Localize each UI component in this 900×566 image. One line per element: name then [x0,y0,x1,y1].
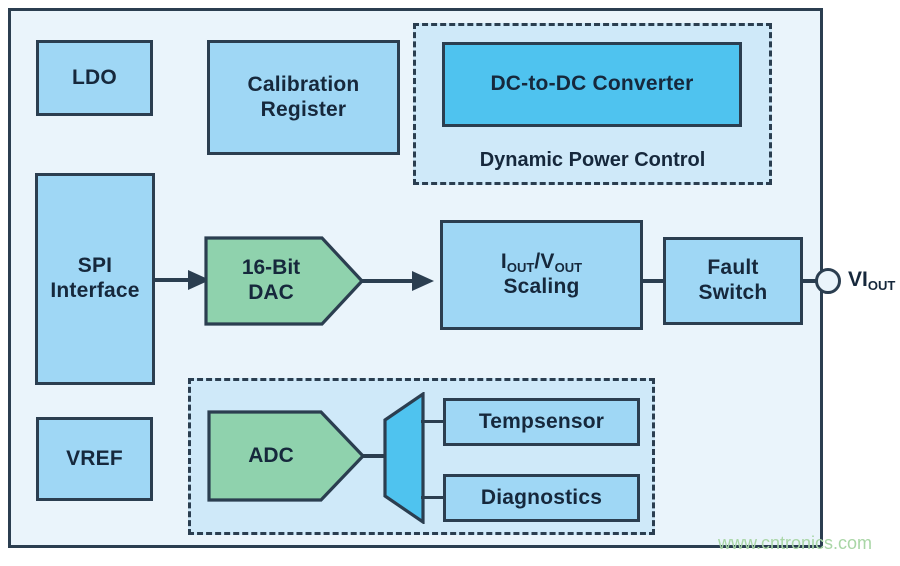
block-adc[interactable]: ADC [207,410,365,502]
scaling-i-sub: OUT [507,260,534,275]
calibration-register-line1: Calibration [248,73,360,96]
spi-interface-line1: SPI [78,254,112,277]
block-vref[interactable]: VREF [36,417,153,501]
scaling-line1: IOUT/VOUT [501,250,582,273]
block-spi-interface[interactable]: SPI Interface [35,173,155,385]
fault-switch-line2: Switch [699,281,768,304]
scaling-v-sub: OUT [555,260,582,275]
fault-switch-line1: Fault [707,256,758,279]
block-iout-vout-scaling[interactable]: IOUT/VOUT Scaling [440,220,643,330]
block-fault-switch[interactable]: Fault Switch [663,237,803,325]
block-dc-to-dc-converter-label: DC-to-DC Converter [490,72,693,97]
output-port-label: VIOUT [848,268,895,292]
output-port-node[interactable] [815,268,841,294]
output-label-sub: OUT [868,278,895,293]
block-calibration-register[interactable]: Calibration Register [207,40,400,155]
watermark: www.cntronics.com [718,533,872,554]
calibration-register-line2: Register [261,98,347,121]
block-tempsensor[interactable]: Tempsensor [443,398,640,446]
block-spi-interface-label: SPI Interface [50,254,139,304]
dac-line1: 16-Bit [242,256,300,279]
block-tempsensor-label: Tempsensor [479,410,604,435]
block-ldo[interactable]: LDO [36,40,153,116]
scaling-line2: Scaling [503,275,579,298]
block-fault-switch-label: Fault Switch [699,256,768,306]
block-iout-vout-scaling-label: IOUT/VOUT Scaling [501,250,582,300]
block-diagnostics-label: Diagnostics [481,486,602,511]
wire-mux-to-tempsensor [421,420,445,423]
output-label-main: VI [848,268,868,291]
block-dc-to-dc-converter[interactable]: DC-to-DC Converter [442,42,742,127]
dac-line2: DAC [248,281,294,304]
block-adc-label: ADC [248,444,294,469]
diagram-canvas: DC-to-DC Converter Dynamic Power Control… [0,0,900,566]
block-16bit-dac[interactable]: 16-Bit DAC [204,236,364,326]
block-vref-label: VREF [66,447,123,472]
spi-interface-line2: Interface [50,279,139,302]
block-multiplexer[interactable] [383,392,425,524]
block-ldo-label: LDO [72,66,117,91]
scaling-v: /V [534,250,554,273]
block-diagnostics[interactable]: Diagnostics [443,474,640,522]
arrowhead-dac-to-scaling [412,269,434,293]
block-16bit-dac-label: 16-Bit DAC [242,256,300,306]
scaling-i: I [501,250,507,273]
block-calibration-register-label: Calibration Register [248,73,360,123]
wire-mux-to-diagnostics [421,496,445,499]
group-dynamic-power-control-label: Dynamic Power Control [413,149,772,172]
